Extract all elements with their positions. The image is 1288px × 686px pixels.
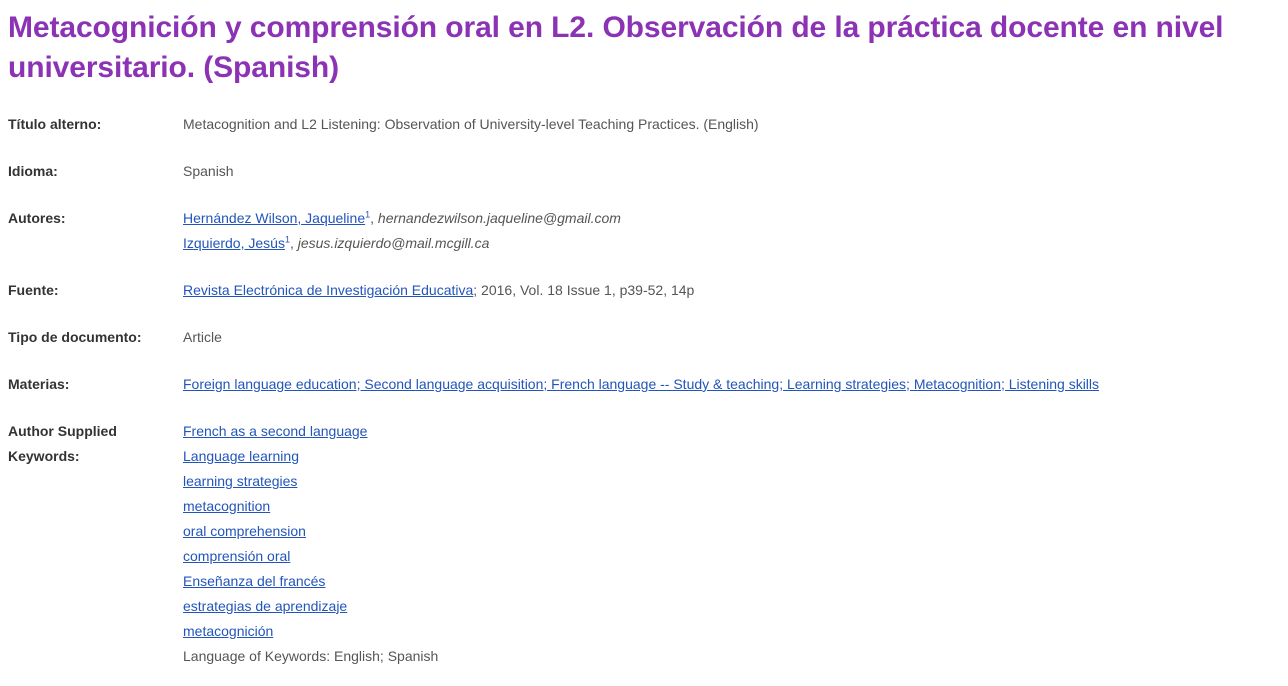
field-row-authors: Autores: Hernández Wilson, Jaqueline1, h… [8,206,1288,256]
keyword-item: French as a second language [183,419,1253,444]
subject-link[interactable]: Foreign language education; Second langu… [183,376,1099,392]
field-row-source: Fuente: Revista Electrónica de Investiga… [8,278,1288,303]
keyword-item: Language learning [183,444,1253,469]
keyword-item: oral comprehension [183,519,1253,544]
author-link[interactable]: Hernández Wilson, Jaqueline [183,210,365,226]
keyword-link[interactable]: Enseñanza del francés [183,573,325,589]
page-title: Metacognición y comprensión oral en L2. … [0,0,1288,88]
keyword-item: Enseñanza del francés [183,569,1253,594]
field-value-alt-title: Metacognition and L2 Listening: Observat… [183,112,1253,137]
author-entry: Izquierdo, Jesús1, jesus.izquierdo@mail.… [183,231,1253,256]
field-value-language: Spanish [183,159,1253,184]
keyword-link[interactable]: comprensión oral [183,548,290,564]
field-value-source: Revista Electrónica de Investigación Edu… [183,278,1253,303]
keyword-link[interactable]: metacognition [183,498,270,514]
field-value-author-keywords: French as a second language Language lea… [183,419,1253,669]
metadata-field-list: Título alterno: Metacognition and L2 Lis… [0,112,1288,669]
author-link[interactable]: Izquierdo, Jesús [183,235,285,251]
keyword-item: estrategias de aprendizaje [183,594,1253,619]
keyword-link[interactable]: Language learning [183,448,299,464]
author-separator: , [370,210,374,226]
keyword-language-note: Language of Keywords: English; Spanish [183,644,1253,669]
field-row-language: Idioma: Spanish [8,159,1288,184]
field-row-subjects: Materias: Foreign language education; Se… [8,372,1288,397]
author-separator: , [290,235,294,251]
field-value-subjects: Foreign language education; Second langu… [183,372,1253,397]
keyword-link[interactable]: French as a second language [183,423,367,439]
field-label-alt-title: Título alterno: [8,112,183,137]
keyword-link[interactable]: estrategias de aprendizaje [183,598,347,614]
keyword-link[interactable]: oral comprehension [183,523,306,539]
keyword-link[interactable]: metacognición [183,623,273,639]
field-value-authors: Hernández Wilson, Jaqueline1, hernandezw… [183,206,1253,256]
source-citation-detail: ; 2016, Vol. 18 Issue 1, p39-52, 14p [473,282,694,298]
field-label-language: Idioma: [8,159,183,184]
field-label-author-keywords: Author Supplied Keywords: [8,419,183,469]
author-email: hernandezwilson.jaqueline@gmail.com [378,210,621,226]
field-label-doc-type: Tipo de documento: [8,325,183,350]
field-label-source: Fuente: [8,278,183,303]
field-label-authors: Autores: [8,206,183,231]
field-label-subjects: Materias: [8,372,183,397]
journal-link[interactable]: Revista Electrónica de Investigación Edu… [183,282,473,298]
keyword-item: metacognition [183,494,1253,519]
keyword-item: metacognición [183,619,1253,644]
field-value-doc-type: Article [183,325,1253,350]
keyword-item: learning strategies [183,469,1253,494]
field-row-alt-title: Título alterno: Metacognition and L2 Lis… [8,112,1288,137]
author-entry: Hernández Wilson, Jaqueline1, hernandezw… [183,206,1253,231]
author-email: jesus.izquierdo@mail.mcgill.ca [298,235,490,251]
field-row-author-keywords: Author Supplied Keywords: French as a se… [8,419,1288,669]
field-row-doc-type: Tipo de documento: Article [8,325,1288,350]
keyword-link[interactable]: learning strategies [183,473,297,489]
record-detail-panel: Metacognición y comprensión oral en L2. … [0,0,1288,669]
keyword-item: comprensión oral [183,544,1253,569]
